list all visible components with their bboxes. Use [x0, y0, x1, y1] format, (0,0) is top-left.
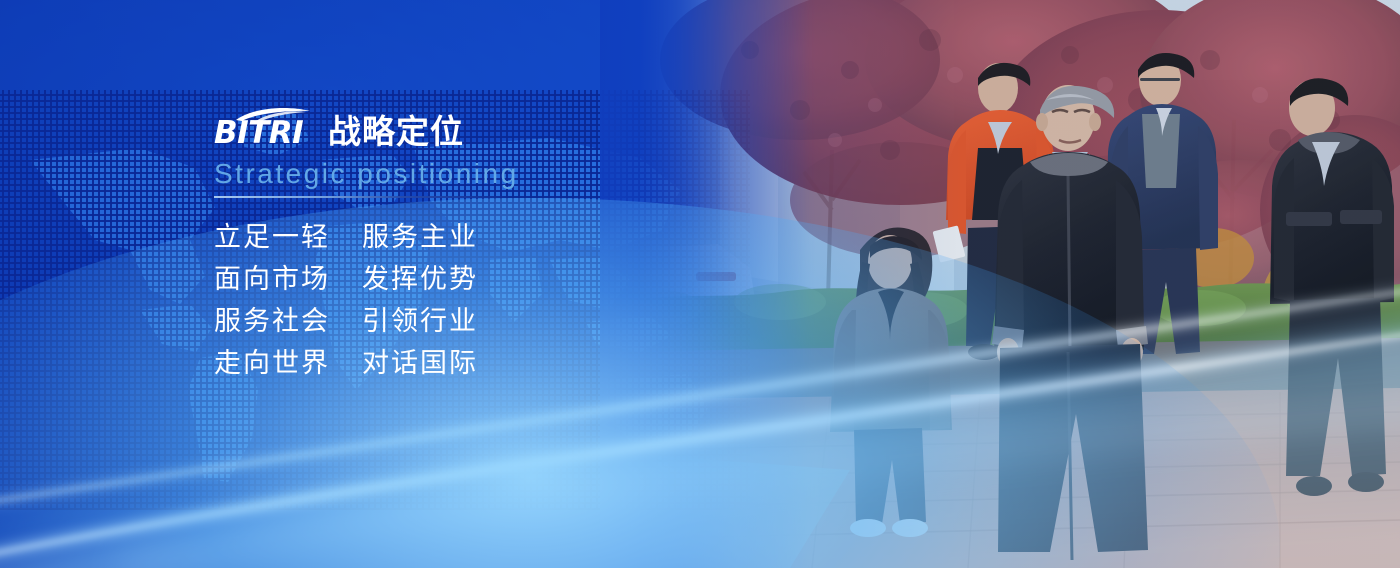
page-subtitle-en: Strategic positioning	[214, 158, 644, 190]
slogan-line: 走向世界 对话国际	[214, 350, 644, 377]
slogan-right: 对话国际	[362, 350, 478, 377]
title-row: BITRI 战略定位	[214, 104, 644, 150]
slogan-right: 引领行业	[362, 308, 478, 335]
slogan-line: 服务社会 引领行业	[214, 308, 644, 335]
slogan-left: 服务社会	[214, 308, 362, 335]
slogan-left: 立足一轻	[214, 224, 362, 251]
title-divider	[214, 196, 514, 198]
banner-content: BITRI 战略定位 Strategic positioning 立足一轻 服务…	[214, 104, 644, 377]
strategic-positioning-banner: BITRI 战略定位 Strategic positioning 立足一轻 服务…	[0, 0, 1400, 568]
slogan-right: 发挥优势	[362, 266, 478, 293]
slogan-right: 服务主业	[362, 224, 478, 251]
slogan-left: 面向市场	[214, 266, 362, 293]
slogan-left: 走向世界	[214, 350, 362, 377]
slogan-line: 面向市场 发挥优势	[214, 266, 644, 293]
slogan-list: 立足一轻 服务主业 面向市场 发挥优势 服务社会 引领行业 走向世界 对话国际	[214, 224, 644, 377]
slogan-line: 立足一轻 服务主业	[214, 224, 644, 251]
hero-photo	[600, 0, 1400, 568]
bitri-wordmark: BITRI	[214, 118, 303, 149]
page-title-cn: 战略定位	[328, 115, 464, 150]
bitri-logo[interactable]: BITRI	[214, 106, 314, 150]
